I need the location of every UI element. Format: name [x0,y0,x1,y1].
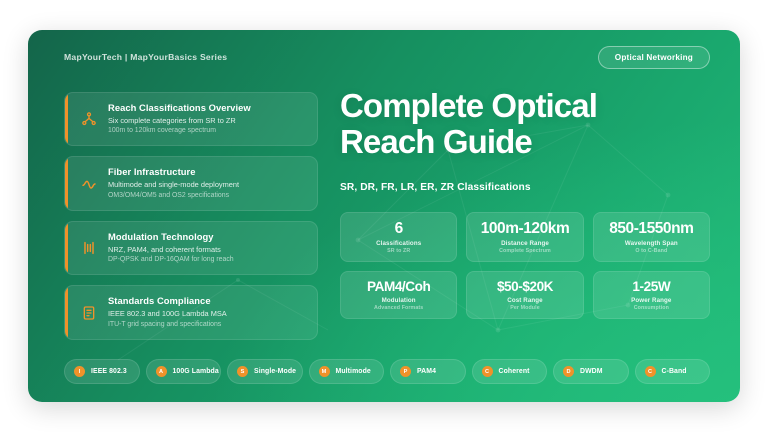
tag-initial-badge: D [563,366,574,377]
stat-label: Cost Range [471,297,578,304]
stat-label: Classifications [345,240,452,247]
stat-sublabel: Complete Spectrum [471,248,578,254]
stat-sublabel: Per Module [471,305,578,311]
tag-pill-label: 100G Lambda [173,368,219,375]
stat-card-power-range: 1-25W Power Range Consumption [593,271,710,319]
status-badge[interactable]: Optical Networking [598,46,710,69]
feature-card-reach-classifications[interactable]: Reach Classifications Overview Six compl… [64,92,318,146]
document-clipboard-icon [79,303,99,323]
stat-label: Wavelength Span [598,240,705,247]
tag-pill-label: IEEE 802.3 [91,368,127,375]
signal-pulse-icon [79,238,99,258]
stat-card-classifications: 6 Classifications SR to ZR [340,212,457,262]
tag-pill-single-mode[interactable]: S Single-Mode [227,359,303,384]
feature-card-line1: Six complete categories from SR to ZR [108,116,251,127]
page-title-line1: Complete Optical [340,88,710,124]
stat-card-cost-range: $50-$20K Cost Range Per Module [466,271,583,319]
page-title: Complete Optical Reach Guide [340,88,710,160]
tag-pill-label: Coherent [499,368,530,375]
tag-pill-label: PAM4 [417,368,436,375]
network-nodes-icon [79,109,99,129]
tag-pill-pam4[interactable]: P PAM4 [390,359,466,384]
tag-pill-multimode[interactable]: M Multimode [309,359,385,384]
tag-pill-label: Multimode [336,368,371,375]
stat-label: Distance Range [471,240,578,247]
feature-card-title: Fiber Infrastructure [108,166,239,178]
stat-value: 850-1550nm [598,221,705,237]
stat-sublabel: O to C-Band [598,248,705,254]
tag-initial-badge: M [319,366,330,377]
feature-card-line1: IEEE 802.3 and 100G Lambda MSA [108,309,227,320]
feature-card-title: Standards Compliance [108,295,227,307]
page-subtitle: SR, DR, FR, LR, ER, ZR Classifications [340,182,710,193]
presentation-slide: MapYourTech | MapYourBasics Series Optic… [28,30,740,402]
feature-card-fiber-infrastructure[interactable]: Fiber Infrastructure Multimode and singl… [64,156,318,210]
stat-sublabel: Advanced Formats [345,305,452,311]
feature-card-line2: ITU-T grid spacing and specifications [108,320,227,330]
stat-sublabel: Consumption [598,305,705,311]
stat-value: 1-25W [598,280,705,294]
stat-value: PAM4/Coh [345,280,452,294]
feature-card-list: Reach Classifications Overview Six compl… [64,92,318,340]
stat-sublabel: SR to ZR [345,248,452,254]
tag-pill-label: C-Band [662,368,687,375]
page-title-line2: Reach Guide [340,124,710,160]
feature-card-line1: Multimode and single-mode deployment [108,180,239,191]
tag-pill-ieee-802-3[interactable]: I IEEE 802.3 [64,359,140,384]
feature-card-standards-compliance[interactable]: Standards Compliance IEEE 802.3 and 100G… [64,285,318,339]
tag-initial-badge: A [156,366,167,377]
tag-pill-label: DWDM [580,368,603,375]
tag-pill-list: I IEEE 802.3 A 100G Lambda S Single-Mode… [64,359,710,384]
hero-section: Complete Optical Reach Guide SR, DR, FR,… [340,88,710,319]
stat-value: 100m-120km [471,221,578,237]
brand-label: MapYourTech | MapYourBasics Series [64,52,227,62]
tag-initial-badge: S [237,366,248,377]
tag-pill-label: Single-Mode [254,368,296,375]
feature-card-line2: 100m to 120km coverage spectrum [108,126,251,136]
tag-initial-badge: I [74,366,85,377]
feature-card-line2: OM3/OM4/OM5 and OS2 specifications [108,191,239,201]
stat-value: 6 [345,221,452,237]
stat-card-distance-range: 100m-120km Distance Range Complete Spect… [466,212,583,262]
tag-pill-dwdm[interactable]: D DWDM [553,359,629,384]
feature-card-title: Modulation Technology [108,231,234,243]
tag-pill-100g-lambda[interactable]: A 100G Lambda [146,359,222,384]
tag-pill-c-band[interactable]: C C-Band [635,359,711,384]
tag-initial-badge: C [482,366,493,377]
stat-value: $50-$20K [471,280,578,294]
tag-initial-badge: P [400,366,411,377]
tag-initial-badge: C [645,366,656,377]
feature-card-line1: NRZ, PAM4, and coherent formats [108,245,234,256]
stats-grid: 6 Classifications SR to ZR 100m-120km Di… [340,212,710,320]
stat-card-modulation: PAM4/Coh Modulation Advanced Formats [340,271,457,319]
feature-card-title: Reach Classifications Overview [108,102,251,114]
feature-card-modulation-technology[interactable]: Modulation Technology NRZ, PAM4, and coh… [64,221,318,275]
stat-label: Modulation [345,297,452,304]
stat-label: Power Range [598,297,705,304]
waveform-sine-icon [79,174,99,194]
feature-card-line2: DP-QPSK and DP-16QAM for long reach [108,255,234,265]
slide-canvas: MapYourTech | MapYourBasics Series Optic… [0,0,768,432]
stat-card-wavelength-span: 850-1550nm Wavelength Span O to C-Band [593,212,710,262]
tag-pill-coherent[interactable]: C Coherent [472,359,548,384]
